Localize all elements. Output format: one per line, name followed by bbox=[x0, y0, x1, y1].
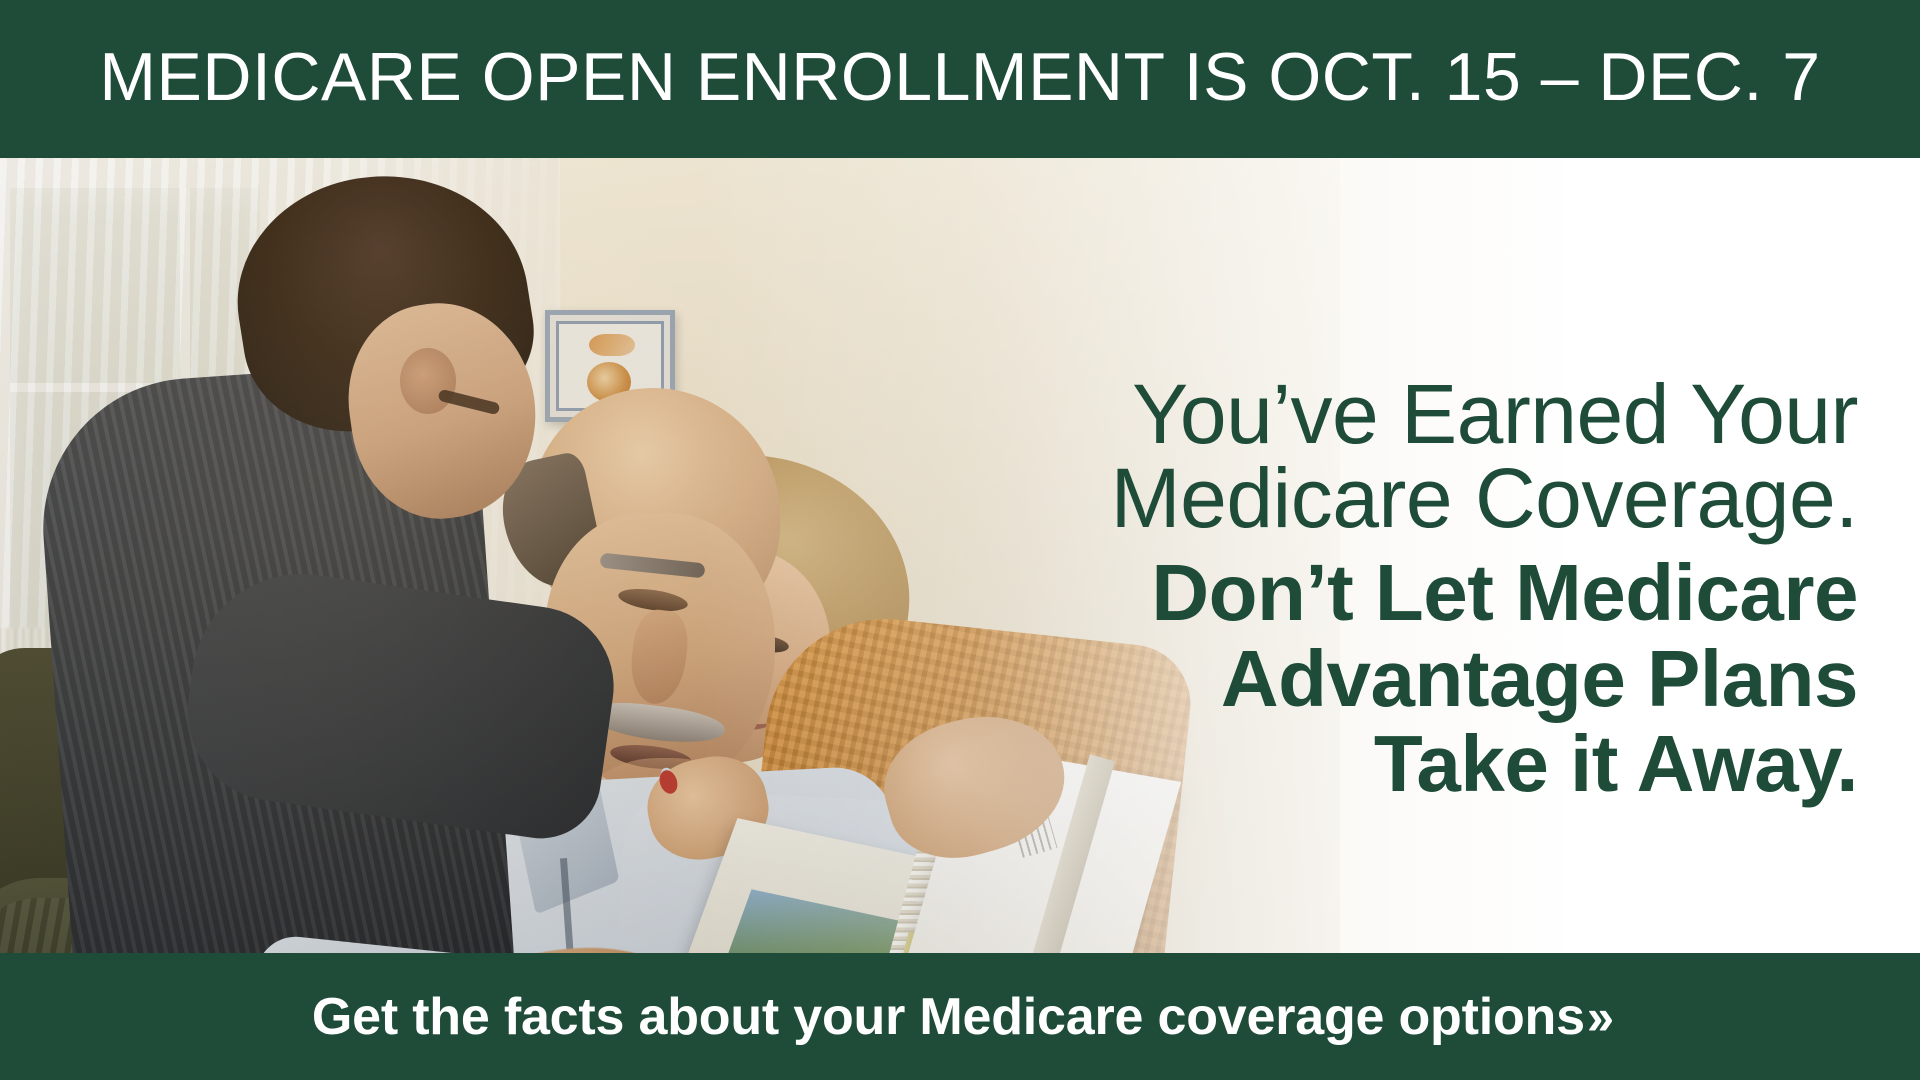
boy-ear bbox=[400, 348, 456, 414]
headline-line-2: Medicare Coverage. bbox=[838, 456, 1858, 540]
headline-line-4: Advantage Plans bbox=[838, 636, 1858, 722]
top-announcement-banner: MEDICARE OPEN ENROLLMENT IS OCT. 15 – DE… bbox=[0, 0, 1920, 158]
bottom-cta-banner[interactable]: Get the facts about your Medicare covera… bbox=[0, 953, 1920, 1080]
cta-link[interactable]: Get the facts about your Medicare covera… bbox=[312, 987, 1608, 1047]
headline-block: You’ve Earned Your Medicare Coverage. Do… bbox=[838, 372, 1858, 807]
double-chevron-right-icon: ›› bbox=[1587, 988, 1608, 1046]
medicare-open-enrollment-ad: MEDICARE OPEN ENROLLMENT IS OCT. 15 – DE… bbox=[0, 0, 1920, 1080]
frame-art-top-shape bbox=[589, 334, 635, 356]
open-enrollment-dates-text: MEDICARE OPEN ENROLLMENT IS OCT. 15 – DE… bbox=[99, 43, 1820, 115]
headline-line-5: Take it Away. bbox=[838, 721, 1858, 807]
cta-text: Get the facts about your Medicare covera… bbox=[312, 987, 1585, 1047]
hero-section: You’ve Earned Your Medicare Coverage. Do… bbox=[0, 158, 1920, 953]
headline-line-3: Don’t Let Medicare bbox=[838, 550, 1858, 636]
headline-bold-block: Don’t Let Medicare Advantage Plans Take … bbox=[838, 550, 1858, 807]
headline-line-1: You’ve Earned Your bbox=[838, 372, 1858, 456]
